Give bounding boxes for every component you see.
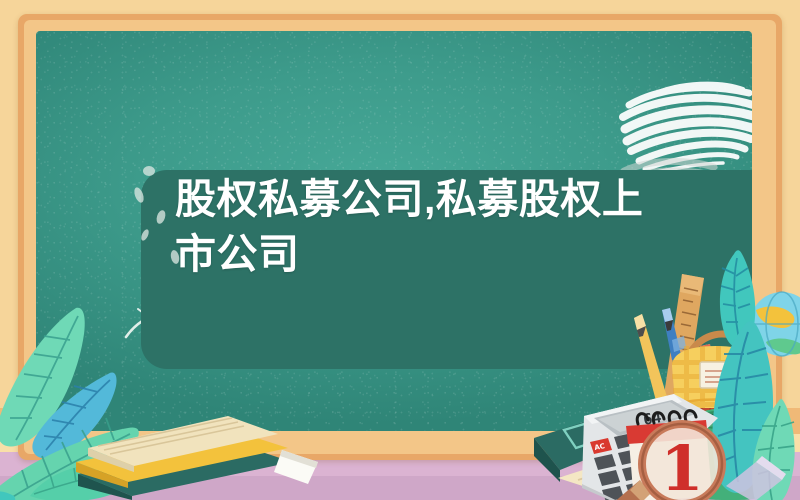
magnifying-glass: 1 [600, 418, 740, 500]
calendar-day-number: 1 [660, 432, 703, 500]
book-stack-left [56, 398, 356, 500]
poster-canvas: 股权私募公司,私募股权上市公司 [0, 0, 800, 500]
page-title: 股权私募公司,私募股权上市公司 [175, 172, 645, 281]
paper-wedge-bottom-right [726, 452, 800, 500]
